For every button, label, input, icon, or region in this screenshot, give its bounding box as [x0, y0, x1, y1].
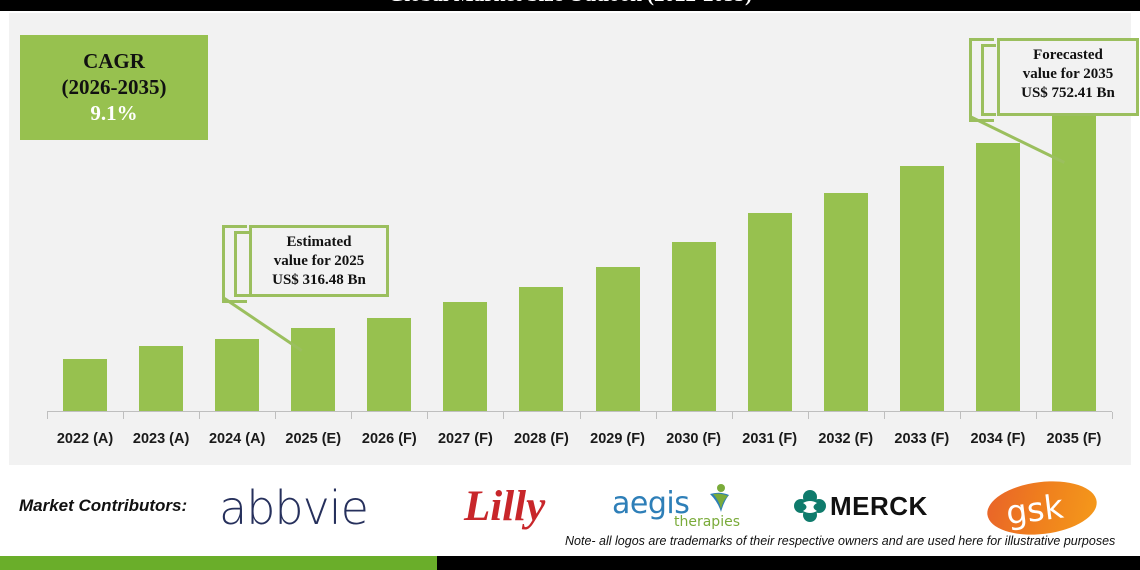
estimated-value-callout: Estimated value for 2025 US$ 316.48 Bn: [249, 225, 389, 297]
x-axis-label: 2028 (F): [503, 431, 579, 447]
bar-2028: [519, 287, 563, 412]
market-contributors-label: Market Contributors:: [19, 496, 187, 516]
bar-2033: [900, 166, 944, 412]
estimated-line1: Estimated: [260, 233, 378, 252]
x-axis-tick: [199, 412, 200, 419]
x-axis-tick: [123, 412, 124, 419]
footer-strip-black: [437, 556, 1140, 570]
x-axis-tick: [1112, 412, 1113, 419]
bar-2032: [824, 193, 868, 412]
estimated-line3: US$ 316.48 Bn: [260, 271, 378, 290]
x-axis-label: 2025 (E): [275, 431, 351, 447]
chart-screenshot: Global Market Size Outlook (2022-2035) C…: [0, 0, 1140, 570]
merck-wordmark: MERCK: [830, 491, 928, 522]
x-axis-tick: [808, 412, 809, 419]
trademark-note: Note- all logos are trademarks of their …: [565, 534, 1115, 548]
estimated-line2: value for 2025: [260, 252, 378, 271]
x-axis-label: 2032 (F): [808, 431, 884, 447]
estimated-callout-bracket-inner: [234, 231, 249, 297]
bar-2027: [443, 302, 487, 412]
x-axis-tick: [656, 412, 657, 419]
market-contributors-strip: Market Contributors: abbvie Lilly aegis …: [9, 470, 1131, 546]
x-axis-label: 2027 (F): [427, 431, 503, 447]
x-axis-label: 2030 (F): [656, 431, 732, 447]
merck-logo: MERCK: [794, 490, 826, 527]
x-axis-label: 2026 (F): [351, 431, 427, 447]
bar-2023: [139, 346, 183, 412]
bar-2034: [976, 143, 1020, 412]
x-axis-tick: [275, 412, 276, 419]
x-axis-label: 2024 (A): [199, 431, 275, 447]
bar-2025: [291, 328, 335, 412]
footer-strip-green: [0, 556, 437, 570]
x-axis-label: 2022 (A): [47, 431, 123, 447]
x-axis-tick: [732, 412, 733, 419]
gsk-wordmark: gsk: [1004, 487, 1066, 533]
plot-panel: CAGR (2026-2035) 9.1% Estimated value fo…: [9, 13, 1131, 465]
chart-title: Global Market Size Outlook (2022-2035): [0, 0, 1140, 7]
bar-series: [9, 13, 1131, 465]
aegis-therapies-logo: aegis therapies: [612, 486, 689, 521]
forecast-line1: Forecasted: [1008, 46, 1128, 65]
x-axis-label: 2029 (F): [580, 431, 656, 447]
bar-2031: [748, 213, 792, 412]
x-axis-tick: [884, 412, 885, 419]
abbvie-logo: abbvie: [219, 481, 368, 535]
x-axis-label: 2035 (F): [1036, 431, 1112, 447]
x-axis-tick: [351, 412, 352, 419]
x-axis-label: 2034 (F): [960, 431, 1036, 447]
x-axis-tick: [47, 412, 48, 419]
x-axis-tick: [503, 412, 504, 419]
bar-2029: [596, 267, 640, 412]
merck-clover-icon: [794, 509, 826, 526]
lilly-logo: Lilly: [464, 482, 545, 531]
x-axis-tick: [960, 412, 961, 419]
gsk-logo: gsk: [987, 482, 1097, 534]
x-axis-tick: [427, 412, 428, 419]
bar-2030: [672, 242, 716, 412]
bar-2022: [63, 359, 107, 412]
bar-2026: [367, 318, 411, 412]
x-axis-label: 2023 (A): [123, 431, 199, 447]
title-band: Global Market Size Outlook (2022-2035): [0, 0, 1140, 11]
x-axis-label: 2031 (F): [732, 431, 808, 447]
x-axis-label: 2033 (F): [884, 431, 960, 447]
forecast-callout-bracket-inner: [981, 44, 996, 116]
forecast-line3: US$ 752.41 Bn: [1008, 84, 1128, 103]
aegis-figure-icon: [704, 482, 734, 519]
forecast-line2: value for 2035: [1008, 65, 1128, 84]
forecast-value-callout: Forecasted value for 2035 US$ 752.41 Bn: [997, 38, 1139, 116]
x-axis-tick: [1036, 412, 1037, 419]
bar-2035: [1052, 108, 1096, 412]
x-axis-tick: [580, 412, 581, 419]
bar-2024: [215, 339, 259, 412]
